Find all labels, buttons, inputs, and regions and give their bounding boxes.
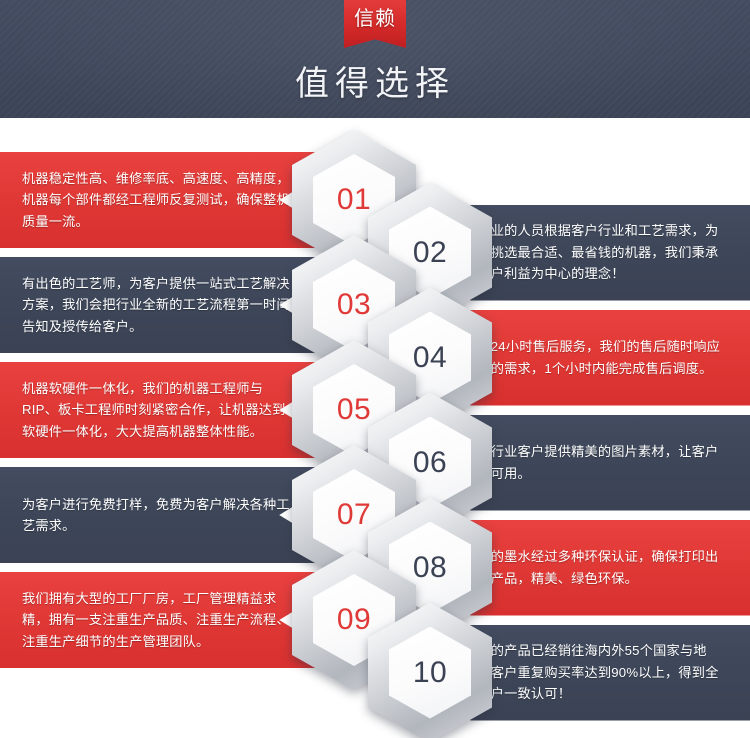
feature-text: 我们的产品已经销往海内外55个国家与地区，客户重复购买率达到90%以上，得到全球…	[464, 640, 728, 704]
page-title: 值得选择	[0, 56, 750, 105]
infographic-page: 信赖 值得选择 机器稳定性高、维修率底、高速度、高精度，机器每个部件都经工程师反…	[0, 0, 750, 738]
step-number: 03	[337, 290, 371, 320]
feature-text: 为客户进行免费打样，免费为客户解决各种工艺需求。	[22, 494, 296, 537]
feature-text: 机器稳定性高、维修率底、高速度、高精度，机器每个部件都经工程师反复测试，确保整机…	[22, 168, 296, 232]
feature-text: 有专业的人员根据客户行业和工艺需求，为客户挑选最合适、最省钱的机器，我们秉承以客…	[464, 220, 728, 284]
step-number: 07	[337, 500, 371, 530]
step-number: 02	[413, 238, 447, 268]
page-header: 信赖 值得选择	[0, 0, 750, 118]
hex-step-10[interactable]: 10	[368, 603, 492, 738]
feature-text: 我们拥有大型的工厂厂房，工厂管理精益求精，拥有一支注重生产品质、注重生产流程、注…	[22, 588, 296, 652]
step-number: 01	[337, 185, 371, 215]
step-number: 04	[413, 343, 447, 373]
step-number: 08	[413, 553, 447, 583]
feature-text: 全国24小时售后服务，我们的售后随时响应客户的需求，1个小时内能完成售后调度。	[464, 336, 728, 379]
feature-text: 机器软硬件一体化，我们的机器工程师与RIP、板卡工程师时刻紧密合作，让机器达到软…	[22, 378, 296, 442]
step-number: 05	[337, 395, 371, 425]
step-number: 09	[337, 605, 371, 635]
feature-text: 有出色的工艺师，为客户提供一站式工艺解决方案，我们会把行业全新的工艺流程第一时间…	[22, 273, 296, 337]
step-number: 10	[413, 658, 447, 688]
feature-text: 为各行业客户提供精美的图片素材，让客户拿即可用。	[464, 441, 728, 484]
step-number: 06	[413, 448, 447, 478]
feature-text: 我们的墨水经过多种环保认证，确保打印出来的产品，精美、绿色环保。	[464, 546, 728, 589]
trust-badge-label: 信赖	[354, 0, 396, 29]
